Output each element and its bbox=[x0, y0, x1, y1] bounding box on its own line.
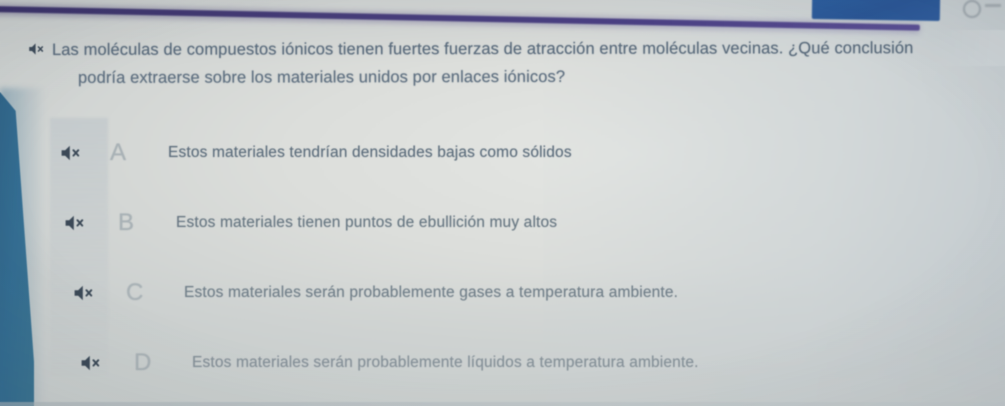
answer-option-letter: A bbox=[110, 139, 126, 167]
answer-option-c[interactable]: C Estos materiales serán probablemente g… bbox=[0, 258, 1005, 328]
answer-option-text: Estos materiales serán probablemente gas… bbox=[184, 284, 678, 302]
answer-option-letter: B bbox=[118, 209, 134, 237]
answer-option-d[interactable]: D Estos materiales serán probablemente l… bbox=[0, 328, 1005, 398]
question-block: Las moléculas de compuestos iónicos tien… bbox=[22, 36, 997, 91]
answer-option-letter: C bbox=[126, 279, 143, 307]
quiz-screen: Las moléculas de compuestos iónicos tien… bbox=[0, 0, 1005, 406]
speaker-muted-icon[interactable] bbox=[28, 38, 45, 65]
question-line-2: podría extraerse sobre los materiales un… bbox=[22, 63, 997, 92]
bottom-edge bbox=[0, 402, 1005, 406]
speaker-muted-icon[interactable] bbox=[64, 214, 86, 232]
speaker-muted-icon[interactable] bbox=[73, 284, 95, 302]
speaker-muted-icon[interactable] bbox=[80, 354, 102, 372]
answer-option-text: Estos materiales tienen puntos de ebulli… bbox=[176, 214, 557, 232]
answer-option-text: Estos materiales serán probablemente líq… bbox=[192, 354, 699, 372]
answer-option-letter: D bbox=[134, 349, 151, 377]
top-right-bar-icon bbox=[985, 4, 1001, 7]
answer-option-b[interactable]: B Estos materiales tienen puntos de ebul… bbox=[0, 188, 1005, 258]
answer-option-text: Estos materiales tendrían densidades baj… bbox=[168, 144, 572, 162]
question-text-line-2: podría extraerse sobre los materiales un… bbox=[78, 68, 565, 87]
answer-option-a[interactable]: A Estos materiales tendrían densidades b… bbox=[0, 118, 1005, 188]
top-right-circle-icon[interactable] bbox=[963, 0, 981, 18]
speaker-muted-icon[interactable] bbox=[60, 144, 82, 162]
question-text-line-1: Las moléculas de compuestos iónicos tien… bbox=[52, 39, 913, 59]
top-right-button[interactable] bbox=[812, 0, 940, 21]
question-line-1: Las moléculas de compuestos iónicos tien… bbox=[22, 35, 997, 65]
answer-options-list: A Estos materiales tendrían densidades b… bbox=[0, 118, 1005, 398]
